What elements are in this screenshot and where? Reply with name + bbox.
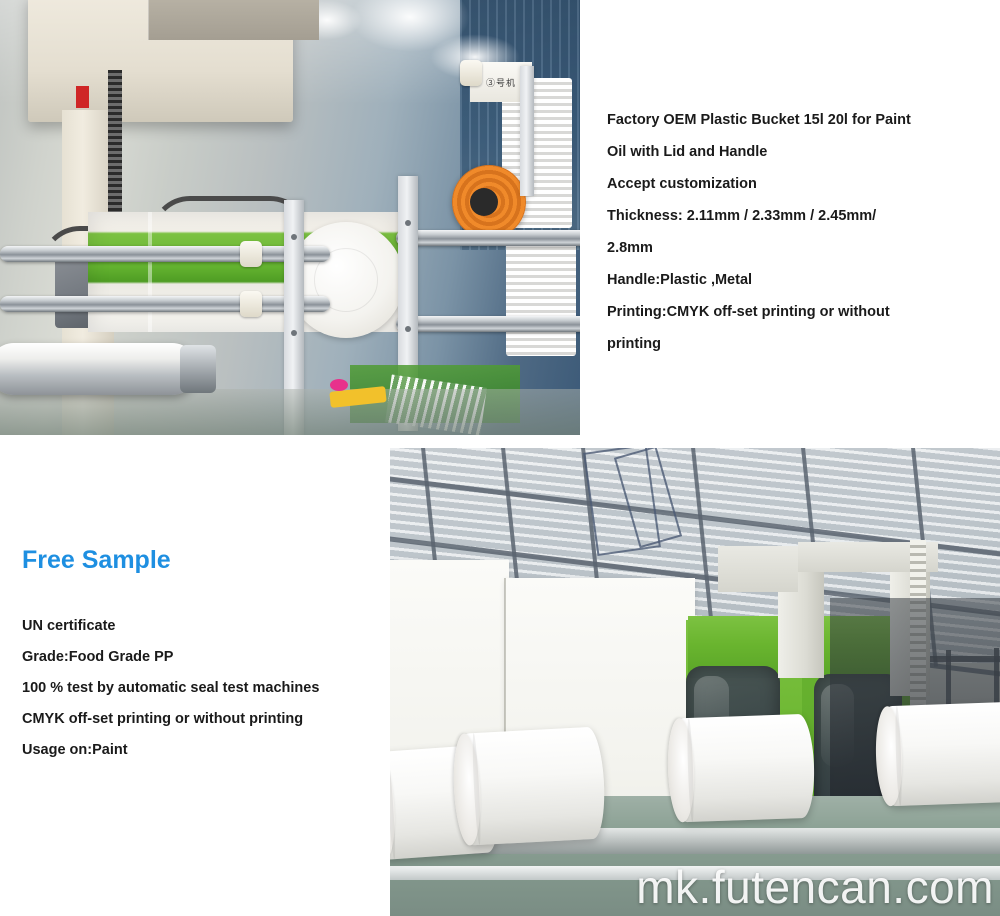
product-detail-page: ③号机 [0, 0, 1000, 916]
spec-line: Factory OEM Plastic Bucket 15l 20l for P… [607, 104, 985, 136]
promo-line: UN certificate [22, 611, 382, 642]
stacked-lids [506, 236, 576, 356]
plastic-bucket [884, 702, 1000, 806]
pink-part [330, 379, 348, 391]
promo-line: Grade:Food Grade PP [22, 642, 382, 673]
handrail [930, 656, 1000, 662]
plastic-bucket [676, 714, 816, 823]
guide-roller [0, 296, 330, 312]
spec-line: printing [607, 328, 985, 360]
spec-line: 2.8mm [607, 232, 985, 264]
spec-line: Oil with Lid and Handle [607, 136, 985, 168]
steel-cylinder [0, 343, 198, 395]
frame-upright [520, 66, 534, 196]
machine-hopper-box [718, 546, 798, 592]
spec-line: Handle:Plastic ,Metal [607, 264, 985, 296]
guide-roller [396, 230, 580, 246]
roller-collar [240, 291, 262, 317]
spec-line: Thickness: 2.11mm / 2.33mm / 2.45mm/ [607, 200, 985, 232]
promo-line: CMYK off-set printing or without printin… [22, 704, 382, 735]
conveyor-rail [390, 866, 1000, 880]
guide-roller [396, 316, 580, 332]
roller-collar [240, 241, 262, 267]
roller-collar [460, 60, 482, 86]
product-spec-text: Factory OEM Plastic Bucket 15l 20l for P… [607, 104, 985, 360]
roll-end-disc [288, 222, 404, 338]
gear-rack [108, 70, 122, 230]
plastic-bucket [461, 726, 607, 845]
promo-heading: Free Sample [22, 545, 382, 575]
spec-line: Accept customization [607, 168, 985, 200]
printing-press-photo: ③号机 [0, 0, 580, 435]
factory-floor [0, 389, 580, 435]
warning-sticker [76, 86, 89, 108]
cylinder-end-cap [180, 345, 216, 393]
press-head-housing [28, 0, 293, 122]
press-nameplate [148, 0, 319, 40]
film-seam [148, 212, 152, 332]
guide-roller [0, 246, 330, 262]
drum-hub [470, 188, 498, 216]
injection-moulding-photo: mk.futencan.com [390, 448, 1000, 916]
spec-line: Printing:CMYK off-set printing or withou… [607, 296, 985, 328]
promo-line: Usage on:Paint [22, 735, 382, 766]
promo-line: 100 % test by automatic seal test machin… [22, 673, 382, 704]
free-sample-promo: Free Sample UN certificate Grade:Food Gr… [22, 545, 382, 766]
